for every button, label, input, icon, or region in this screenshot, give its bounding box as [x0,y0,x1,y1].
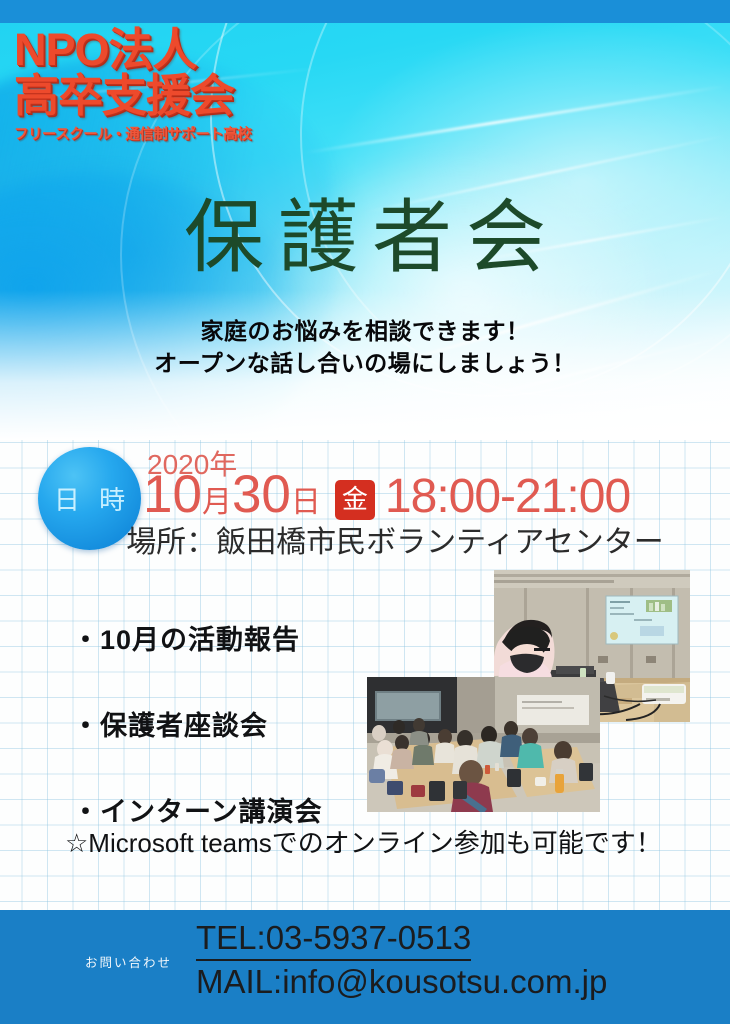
photo-meeting-illustration [367,677,600,812]
list-item: ・10月の活動報告 [72,618,402,657]
list-item: ・保護者座談会 [72,704,402,743]
contact-mail[interactable]: MAIL:info@kousotsu.com.jp [196,963,607,1001]
lead-copy: 家庭のお悩みを相談できます！ オープンな話し合いの場にしましょう！ [0,316,730,379]
logo-line-1: NPO法人 [14,28,274,72]
event-place: 場所：飯田橋市民ボランティアセンター [0,517,730,561]
poster-root: NPO法人 高卒支援会 フリースクール・通信制サポート高校 保護者会 家庭のお悩… [0,0,730,1024]
event-month-unit: 月 [202,488,232,518]
event-month-number: 10 [143,468,202,521]
contact-tel[interactable]: TEL:03-5937-0513 [196,919,471,961]
event-date-line: 10 月 30 日 金 18:00-21:00 [143,468,630,524]
page-title: 保護者会 [0,198,730,278]
logo-line-2: 高卒支援会 [14,74,274,118]
top-color-band [0,0,730,23]
event-time: 18:00-21:00 [385,473,630,521]
photo-meeting-room-participants [367,677,600,812]
online-participation-note: ☆Microsoft teamsでのオンライン参加も可能です！ [65,826,665,860]
event-day-unit: 日 [291,488,321,518]
logo-subtitle: フリースクール・通信制サポート高校 [14,123,274,144]
lead-line-2: オープンな話し合いの場にしましょう！ [0,348,730,380]
contact-label: お問い合わせ [85,952,172,971]
lead-line-1: 家庭のお悩みを相談できます！ [0,316,730,348]
event-weekday-badge: 金 [335,480,375,520]
event-day-number: 30 [232,468,291,521]
organization-logo: NPO法人 高卒支援会 フリースクール・通信制サポート高校 [14,28,274,144]
datetime-badge-label: 日 時 [48,480,131,517]
list-item: ・インターン講演会 [72,790,402,829]
